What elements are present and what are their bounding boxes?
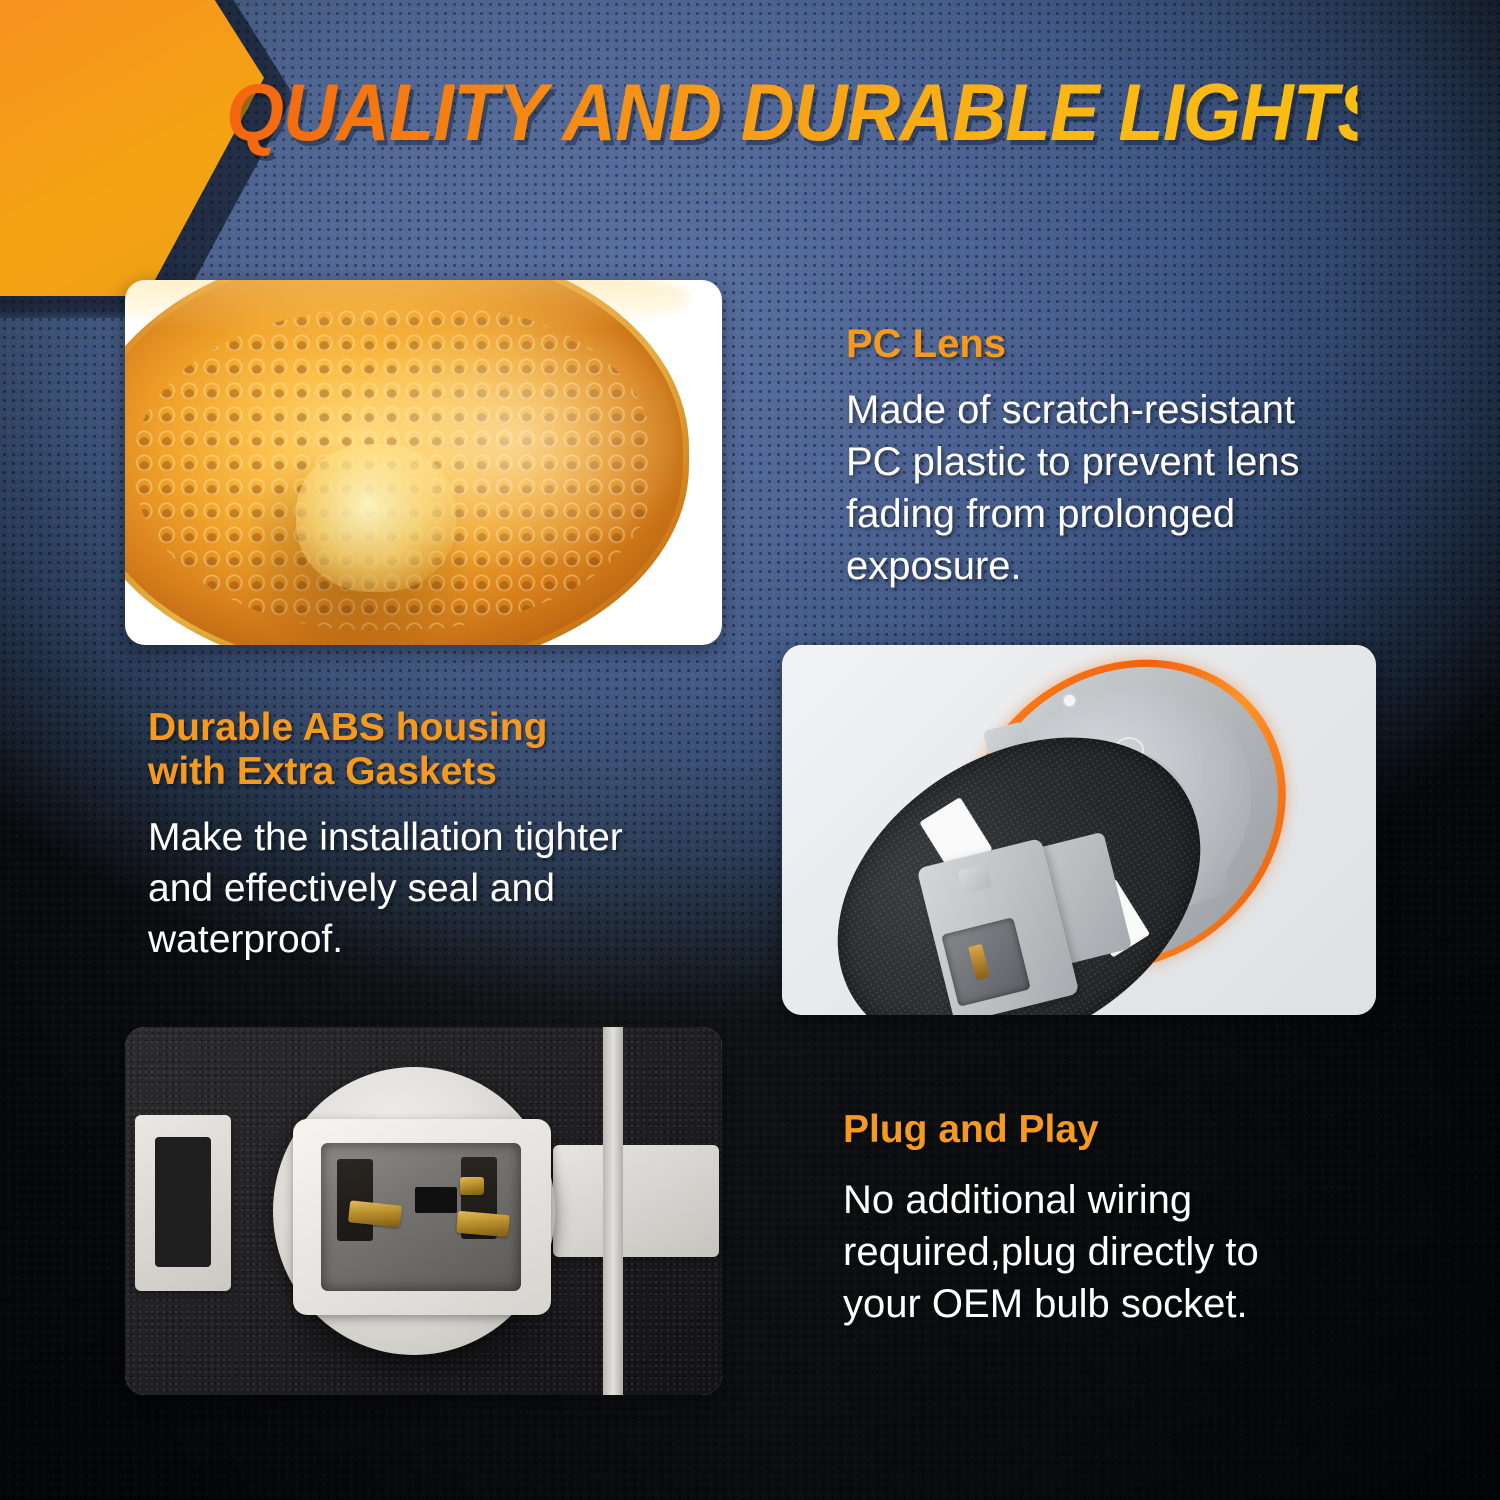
housing-highlight-dot-icon: [1064, 695, 1075, 706]
socket-support-rod: [603, 1027, 623, 1395]
socket-brass-contact-right: [456, 1211, 510, 1237]
housing-back-photo: [782, 645, 1376, 1015]
lens-specular-glow: [351, 314, 681, 564]
socket-clip-right: [553, 1145, 719, 1257]
socket-divider-block: [415, 1187, 457, 1213]
feature-text-plug-and-play: Plug and Play No additional wiring requi…: [843, 1108, 1373, 1330]
feature-body-abs-housing: Make the installation tighter and effect…: [148, 813, 728, 965]
feature-body-pc-lens: Made of scratch-resistant PC plastic to …: [846, 384, 1386, 592]
page-title: QUALITY AND DURABLE LIGHTS: [226, 58, 1358, 168]
feature-body-plug-and-play: No additional wiring required,plug direc…: [843, 1174, 1373, 1330]
bulb-socket-photo: [125, 1027, 722, 1395]
feature-heading-plug-and-play: Plug and Play: [843, 1108, 1373, 1152]
infographic-canvas: QUALITY AND DURABLE LIGHTS: [0, 0, 1500, 1500]
lens-assembly: [125, 280, 681, 645]
socket-clip-left: [135, 1115, 231, 1291]
feature-heading-pc-lens: PC Lens: [846, 322, 1386, 367]
photo-card-bulb-socket: [125, 1027, 722, 1395]
feature-heading-abs-housing: Durable ABS housing with Extra Gaskets: [148, 706, 728, 794]
feature-text-abs-housing: Durable ABS housing with Extra Gaskets M…: [148, 706, 728, 965]
photo-card-amber-lens: [125, 280, 722, 645]
socket-brass-contact-upper: [460, 1177, 484, 1195]
amber-lens-photo: [125, 280, 722, 645]
feature-text-pc-lens: PC Lens Made of scratch-resistant PC pla…: [846, 322, 1386, 592]
photo-card-housing-back: [782, 645, 1376, 1015]
